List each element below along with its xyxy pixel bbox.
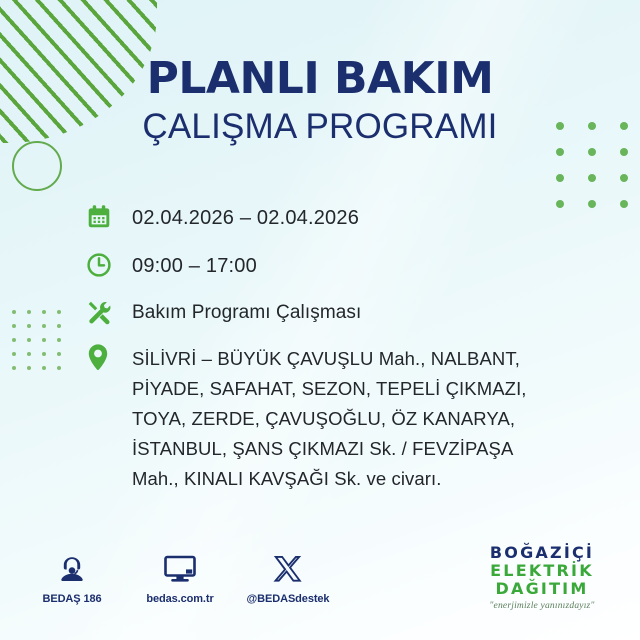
bedas-logo: BOĞAZİÇİ ELEKTRİK DAĞITIM "enerjimizle y… [462,544,622,611]
detail-row-date: 02.04.2026 – 02.04.2026 [86,200,586,234]
page-title: PLANLI BAKIM [0,56,640,102]
x-twitter-icon [246,550,330,588]
page-subtitle: ÇALIŞMA PROGRAMI [0,106,640,147]
maintenance-date-range: 02.04.2026 – 02.04.2026 [132,200,359,233]
dot-grid-left-decoration [12,310,72,380]
maintenance-address-list: SİLİVRİ – BÜYÜK ÇAVUŞLU Mah., NALBANT, P… [132,344,562,494]
brand-tagline: "enerjimizle yanınızdayız" [462,601,622,611]
poster-footer: BEDAŞ 186 bedas.com.tr [0,544,640,626]
maintenance-time-range: 09:00 – 17:00 [132,248,257,281]
brand-line-elektrik: ELEKTRİK [462,562,622,580]
detail-row-address: SİLİVRİ – BÜYÜK ÇAVUŞLU Mah., NALBANT, P… [86,344,586,494]
contact-channels: BEDAŞ 186 bedas.com.tr [30,550,330,605]
maintenance-details: 02.04.2026 – 02.04.2026 09:00 – 17:00 [86,200,586,494]
clock-icon [86,248,132,282]
brand-line-dagitim: DAĞITIM [462,580,622,598]
maintenance-work-type: Bakım Programı Çalışması [132,296,361,328]
tools-icon [86,296,132,330]
contact-website[interactable]: bedas.com.tr [138,550,222,605]
calendar-icon [86,200,132,234]
contact-call-center[interactable]: BEDAŞ 186 [30,550,114,605]
contact-website-label: bedas.com.tr [138,593,222,605]
headset-operator-icon [30,550,114,588]
detail-row-time: 09:00 – 17:00 [86,248,586,282]
location-pin-icon [86,344,132,372]
contact-x-account-label: @BEDASdestek [246,593,330,605]
brand-line-bogazici: BOĞAZİÇİ [462,544,622,562]
detail-row-work-type: Bakım Programı Çalışması [86,296,586,330]
monitor-icon [138,550,222,588]
contact-x-account[interactable]: @BEDASdestek [246,550,330,605]
contact-call-center-label: BEDAŞ 186 [30,593,114,605]
circle-outline-decoration [12,141,62,191]
planned-maintenance-poster: PLANLI BAKIM ÇALIŞMA PROGRAMI 02 [0,0,640,640]
poster-heading-group: PLANLI BAKIM ÇALIŞMA PROGRAMI [0,56,640,147]
